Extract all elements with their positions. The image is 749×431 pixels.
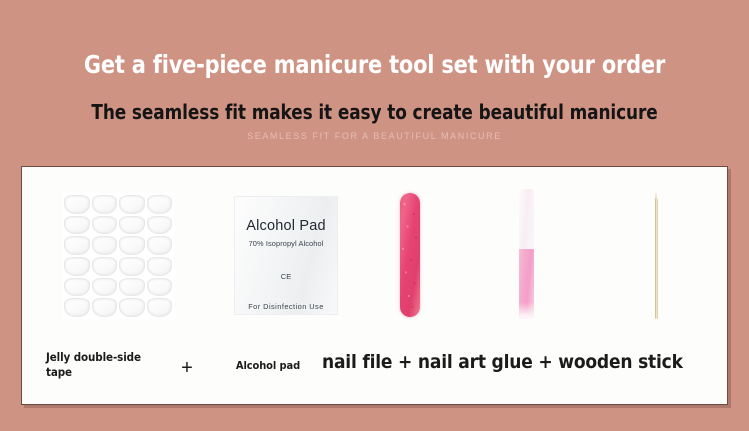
packet-footer: For Disinfection Use xyxy=(248,302,324,311)
tape-tab xyxy=(119,257,145,276)
tape-tab xyxy=(92,236,118,255)
caption-alcohol-pad: Alcohol pad xyxy=(204,359,332,372)
tape-tab xyxy=(64,257,90,276)
wooden-stick-body xyxy=(655,199,658,319)
tape-tab xyxy=(119,195,145,214)
jelly-double-side-tape-image xyxy=(62,193,174,319)
plus-separator-icon: + xyxy=(172,357,202,380)
wooden-stick-image xyxy=(653,191,660,319)
tape-tab xyxy=(64,298,90,317)
nail-file-image xyxy=(400,193,420,317)
nail-file-grit-texture xyxy=(400,193,420,317)
ce-mark: CE xyxy=(281,272,291,281)
nail-art-glue-image xyxy=(519,189,534,319)
alcohol-pad-image: Alcohol Pad 70% Isopropyl Alcohol CE For… xyxy=(234,196,338,315)
packet-subtitle: 70% Isopropyl Alcohol xyxy=(249,239,324,248)
tape-tab xyxy=(119,278,145,297)
tape-tab xyxy=(64,216,90,235)
caption-jelly-tape: Jelly double-side tape xyxy=(46,350,156,380)
tape-tab-grid xyxy=(62,193,174,319)
tape-tab xyxy=(92,257,118,276)
tape-tab xyxy=(92,278,118,297)
page-subheadline: The seamless fit makes it easy to create… xyxy=(22,100,726,124)
tape-tab xyxy=(147,195,173,214)
tape-tab xyxy=(147,236,173,255)
caption-remaining-tools: nail file + nail art glue + wooden stick xyxy=(322,351,712,373)
tape-tab xyxy=(92,195,118,214)
tape-tab xyxy=(147,216,173,235)
tape-tab xyxy=(119,298,145,317)
packet-title: Alcohol Pad xyxy=(246,218,326,234)
product-row: Alcohol Pad 70% Isopropyl Alcohol CE For… xyxy=(22,167,727,337)
caption-row: Jelly double-side tape + Alcohol pad nai… xyxy=(22,337,727,406)
tape-tab xyxy=(64,236,90,255)
tape-tab xyxy=(92,298,118,317)
tape-tab xyxy=(119,236,145,255)
tape-tab xyxy=(119,216,145,235)
glue-cap xyxy=(519,189,534,251)
tape-tab xyxy=(92,216,118,235)
product-panel: Alcohol Pad 70% Isopropyl Alcohol CE For… xyxy=(21,166,728,405)
tape-tab xyxy=(64,195,90,214)
glue-body xyxy=(519,249,534,319)
tape-tab xyxy=(147,278,173,297)
tape-tab xyxy=(147,257,173,276)
tape-tab xyxy=(64,278,90,297)
tape-tab xyxy=(147,298,173,317)
page-headline: Get a five-piece manicure tool set with … xyxy=(26,50,723,79)
page-tagline: SEAMLESS FIT FOR A BEAUTIFUL MANICURE xyxy=(0,131,749,141)
